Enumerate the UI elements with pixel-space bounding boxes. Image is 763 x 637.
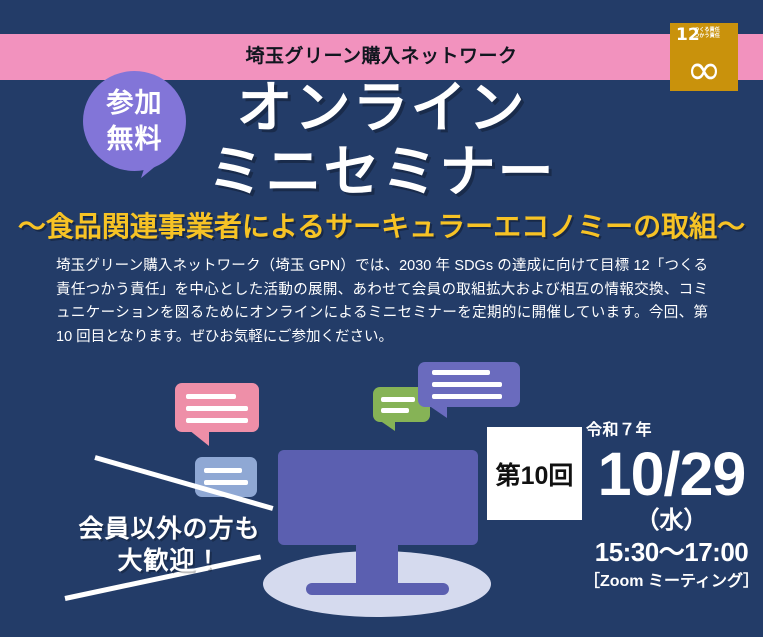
- title-line-2: ミニセミナー: [208, 140, 556, 203]
- subtitle: 〜食品関連事業者によるサーキュラーエコノミーの取組〜: [0, 209, 763, 245]
- event-date-block: 令和７年 10/29 （水） 15:30〜17:00 ［Zoom ミーティング］: [580, 420, 763, 594]
- monitor-base-icon: [306, 583, 449, 595]
- event-platform: ［Zoom ミーティング］: [580, 570, 763, 594]
- title-line-1: オンライン: [237, 76, 527, 139]
- era-year: 令和７年: [580, 420, 763, 442]
- free-participation-label: 参加無料: [83, 85, 186, 157]
- event-weekday: （水）: [580, 506, 763, 536]
- chat-bubble-pink-icon: [175, 383, 259, 432]
- welcome-message: 会員以外の方も 大歓迎！: [62, 513, 277, 577]
- monitor-icon: [278, 450, 478, 545]
- issue-number-box: 第10回: [487, 427, 582, 520]
- event-time: 15:30〜17:00: [580, 536, 763, 568]
- issue-number-label: 第10回: [496, 456, 574, 492]
- event-date: 10/29: [580, 442, 763, 506]
- welcome-line-1: 会員以外の方も: [78, 515, 260, 543]
- infinity-icon: ∞: [670, 49, 738, 91]
- organization-title: 埼玉グリーン購入ネットワーク: [0, 44, 763, 70]
- monitor-neck-icon: [356, 538, 398, 586]
- seminar-poster: 埼玉グリーン購入ネットワーク 12 つくる責任つかう責任 ∞ 参加無料 オンライ…: [0, 0, 763, 637]
- description-paragraph: 埼玉グリーン購入ネットワーク（埼玉 GPN）では、2030 年 SDGs の達成…: [56, 255, 708, 349]
- sdg-goal-12-badge: 12 つくる責任つかう責任 ∞: [670, 23, 738, 91]
- chat-bubble-purple-icon: [418, 362, 520, 407]
- welcome-line-2: 大歓迎！: [117, 547, 221, 575]
- free-participation-badge: 参加無料: [83, 71, 186, 171]
- sdg-goal-text: つくる責任つかう責任: [694, 27, 736, 40]
